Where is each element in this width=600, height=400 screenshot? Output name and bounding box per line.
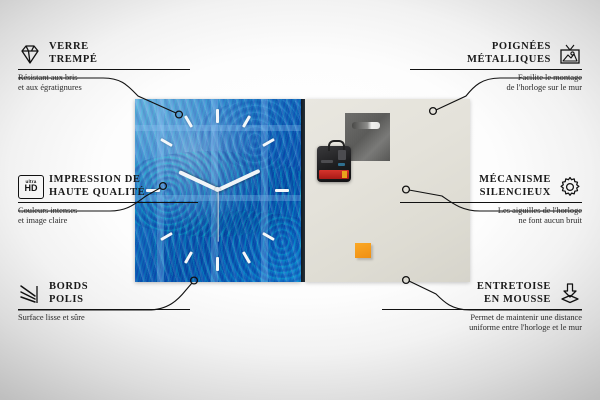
clock-battery bbox=[319, 170, 349, 179]
callout-entretoise-en-mousse[interactable]: ENTRETOISE EN MOUSSE Permet de maintenir… bbox=[382, 281, 582, 333]
ultra-hd-icon: ultra HD bbox=[18, 175, 42, 199]
foam-spacer-arrow-icon bbox=[558, 282, 582, 306]
callout-header: POIGNÉES MÉTALLIQUES bbox=[410, 41, 582, 66]
callout-bords-polis[interactable]: BORDS POLIS Surface lisse et sûre bbox=[18, 281, 190, 323]
picture-frame-hanger-icon bbox=[558, 42, 582, 66]
callout-header: ultra HD IMPRESSION DE HAUTE QUALITÉ bbox=[18, 174, 198, 199]
callout-header: MÉCANISME SILENCIEUX bbox=[400, 174, 582, 199]
callout-divider bbox=[410, 69, 582, 70]
polished-edges-icon bbox=[18, 282, 42, 306]
infographic-canvas: VERRE TREMPÉ Résistant aux bris et aux é… bbox=[0, 0, 600, 400]
callout-divider bbox=[18, 309, 190, 310]
callout-title: BORDS POLIS bbox=[49, 281, 88, 306]
callout-divider bbox=[382, 309, 582, 310]
clock-second-hand bbox=[217, 190, 218, 242]
mechanism-detail bbox=[321, 160, 333, 163]
mechanism-detail bbox=[338, 150, 346, 160]
callout-impression-haute-qualite[interactable]: ultra HD IMPRESSION DE HAUTE QUALITÉ Cou… bbox=[18, 174, 198, 226]
callout-title: VERRE TREMPÉ bbox=[49, 41, 98, 66]
mechanism-detail bbox=[338, 163, 345, 166]
clock-mechanism bbox=[317, 146, 351, 182]
callout-mecanisme-silencieux[interactable]: MÉCANISME SILENCIEUX Les aiguilles de l'… bbox=[400, 174, 582, 226]
callout-divider bbox=[18, 69, 190, 70]
clock-tick bbox=[216, 257, 219, 271]
callout-poignees-metalliques[interactable]: POIGNÉES MÉTALLIQUES Facilite le montage… bbox=[410, 41, 582, 93]
callout-title: MÉCANISME SILENCIEUX bbox=[479, 174, 551, 199]
callout-divider bbox=[18, 202, 198, 203]
metal-hanger-plate bbox=[345, 113, 390, 161]
callout-header: BORDS POLIS bbox=[18, 281, 190, 306]
grid-line-h1 bbox=[135, 125, 301, 131]
clock-tick bbox=[275, 189, 289, 192]
hanger-keyhole-slot bbox=[352, 122, 380, 129]
callout-title: ENTRETOISE EN MOUSSE bbox=[477, 281, 551, 306]
callout-verre-trempe[interactable]: VERRE TREMPÉ Résistant aux bris et aux é… bbox=[18, 41, 190, 93]
clock-center-hub bbox=[215, 187, 220, 192]
callout-title: POIGNÉES MÉTALLIQUES bbox=[467, 41, 551, 66]
orange-foam-spacer bbox=[355, 243, 371, 258]
gear-icon bbox=[558, 175, 582, 199]
callout-header: VERRE TREMPÉ bbox=[18, 41, 190, 66]
diamond-icon bbox=[18, 42, 42, 66]
clock-tick bbox=[216, 109, 219, 123]
callout-divider bbox=[400, 202, 582, 203]
callout-header: ENTRETOISE EN MOUSSE bbox=[382, 281, 582, 306]
callout-title: IMPRESSION DE HAUTE QUALITÉ bbox=[49, 174, 145, 199]
